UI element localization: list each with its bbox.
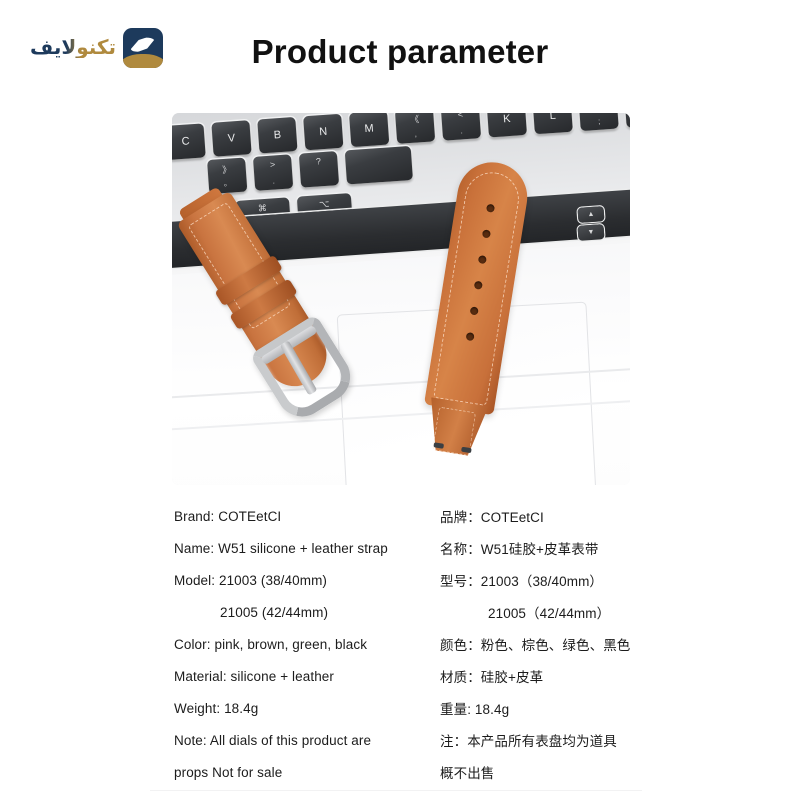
spec-row-note-cont: props Not for sale [174,756,434,788]
spec-row-model-zh: 型号：21003（38/40mm） [440,564,690,596]
spec-row-note: Note: All dials of this product are [174,724,434,756]
key-l: L [533,113,573,134]
key-k: K [487,113,527,137]
key-comma-upper-glyph: 《 [395,113,434,127]
key-m: M [349,113,389,147]
spec-row-material-zh: 材质：硅胶+皮革 [440,660,690,692]
spec-column-chinese: 品牌：COTEetCI 名称：W51硅胶+皮革表带 型号：21003（38/40… [440,500,690,788]
spec-row-weight-zh: 重量: 18.4g [440,692,690,724]
product-photo: C V B N M 《 , < . K L : ; " ' [172,113,630,485]
bottom-divider [150,790,642,791]
key-comma: 《 , [395,113,435,144]
key-quote: " ' [624,113,630,128]
spec-row-note-zh: 注：本产品所有表盘均为道具 [440,724,690,756]
spec-row-model-alt-zh: 21005（42/44mm） [440,596,690,628]
spec-row-color: Color: pink, brown, green, black [174,628,434,660]
page-title: Product parameter [0,33,800,71]
key-semicolon-glyph: ; [580,115,619,127]
spec-column-english: Brand: COTEetCI Name: W51 silicone + lea… [174,500,434,788]
product-parameter-page: تکنولایف Product parameter C V B N M 《 , [0,0,800,800]
key-comma-lower-glyph: , [396,128,435,140]
key-quote-glyph: ' [626,113,630,124]
key-arrow-up: ▲ [578,206,605,223]
key-semicolon: : ; [578,113,618,131]
spec-row-model-alt: 21005 (42/44mm) [174,596,434,628]
key-shift-right [345,146,413,185]
spec-row-name: Name: W51 silicone + leather strap [174,532,434,564]
spec-row-note-cont-zh: 概不出售 [440,756,690,788]
spec-row-material: Material: silicone + leather [174,660,434,692]
key-v: V [211,120,251,157]
key-arrow-down: ▼ [578,224,605,241]
spec-row-weight: Weight: 18.4g [174,692,434,724]
key-period-lower-glyph: . [442,125,481,137]
key-c: C [172,123,206,160]
spec-row-brand-zh: 品牌：COTEetCI [440,500,690,532]
page-header: تکنولایف Product parameter [0,0,800,100]
key-period-upper-glyph: < [441,113,480,121]
spec-row-color-zh: 颜色：粉色、棕色、绿色、黑色 [440,628,690,660]
spec-row-brand: Brand: COTEetCI [174,500,434,532]
spec-row-name-zh: 名称：W51硅胶+皮革表带 [440,532,690,564]
spec-row-model: Model: 21003 (38/40mm) [174,564,434,596]
key-period: < . [441,113,481,141]
